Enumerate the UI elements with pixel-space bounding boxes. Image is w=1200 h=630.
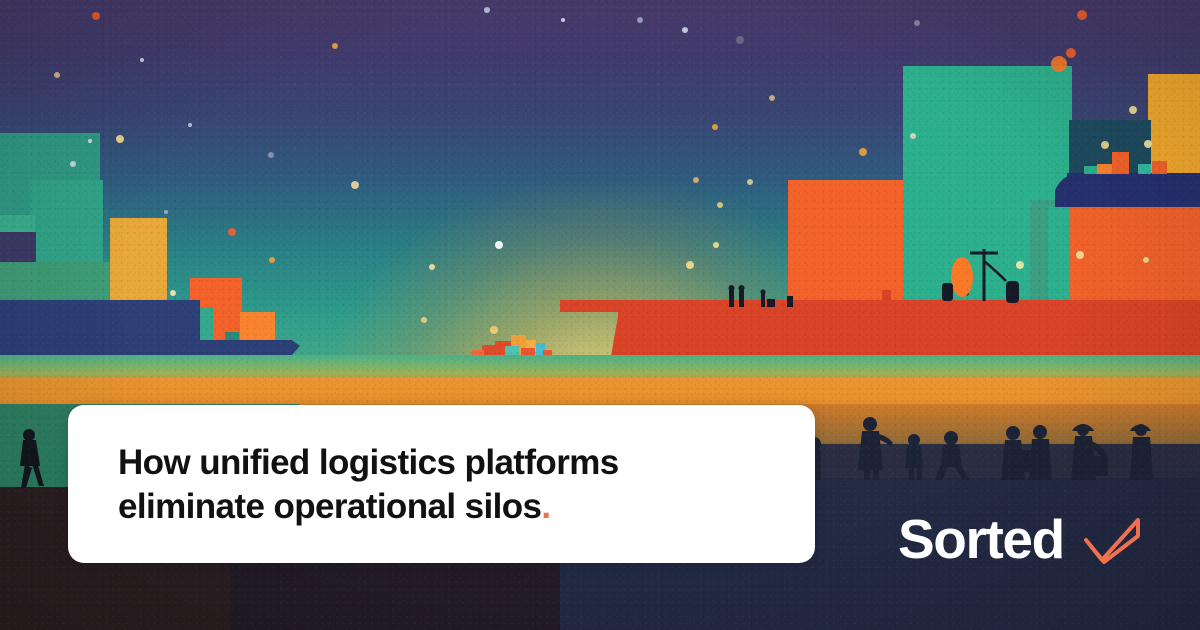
star-dot: [116, 135, 124, 143]
star-dot: [637, 17, 643, 23]
star-dot: [717, 202, 723, 208]
star-dot: [351, 181, 359, 189]
star-dot: [484, 7, 490, 13]
star-dot: [914, 20, 920, 26]
star-dot: [421, 317, 427, 323]
star-dot: [490, 326, 498, 334]
star-dot: [1051, 56, 1067, 72]
star-dot: [1066, 48, 1076, 58]
title-line-2: eliminate operational silos: [118, 487, 541, 526]
star-dot: [429, 264, 435, 270]
star-dot: [170, 290, 176, 296]
star-dot: [712, 124, 718, 130]
title-card: How unified logistics platforms eliminat…: [68, 405, 815, 563]
star-dot: [332, 43, 338, 49]
star-dot: [1144, 140, 1152, 148]
social-share-card: How unified logistics platforms eliminat…: [0, 0, 1200, 630]
star-dot: [859, 148, 867, 156]
star-dot: [164, 210, 168, 214]
star-dot: [1016, 261, 1024, 269]
star-dot: [1143, 257, 1149, 263]
star-dot: [910, 133, 916, 139]
star-dot: [1076, 251, 1084, 259]
star-dot: [693, 177, 699, 183]
star-dot: [188, 123, 192, 127]
star-dot: [747, 179, 753, 185]
title-line-1: How unified logistics platforms: [118, 443, 619, 482]
brand-wordmark: Sorted: [898, 512, 1064, 567]
brand-logo[interactable]: Sorted: [898, 512, 1142, 567]
star-dot: [228, 228, 236, 236]
star-dot: [88, 139, 92, 143]
star-dot: [70, 161, 76, 167]
star-dot: [495, 241, 503, 249]
star-dot: [140, 58, 144, 62]
title-accent-dot: .: [541, 487, 550, 526]
star-dot: [686, 261, 694, 269]
star-dot: [561, 18, 565, 22]
star-dot: [769, 95, 775, 101]
page-title: How unified logistics platforms eliminat…: [118, 441, 778, 530]
star-dot: [1129, 106, 1137, 114]
star-dot: [1101, 141, 1109, 149]
star-dot: [269, 257, 275, 263]
star-dot: [736, 36, 744, 44]
star-dot: [682, 27, 688, 33]
star-dot: [713, 242, 719, 248]
star-dot: [54, 72, 60, 78]
star-dot: [1077, 10, 1087, 20]
sorted-check-mark-icon: [1082, 514, 1142, 566]
star-dot: [268, 152, 274, 158]
star-dot: [92, 12, 100, 20]
